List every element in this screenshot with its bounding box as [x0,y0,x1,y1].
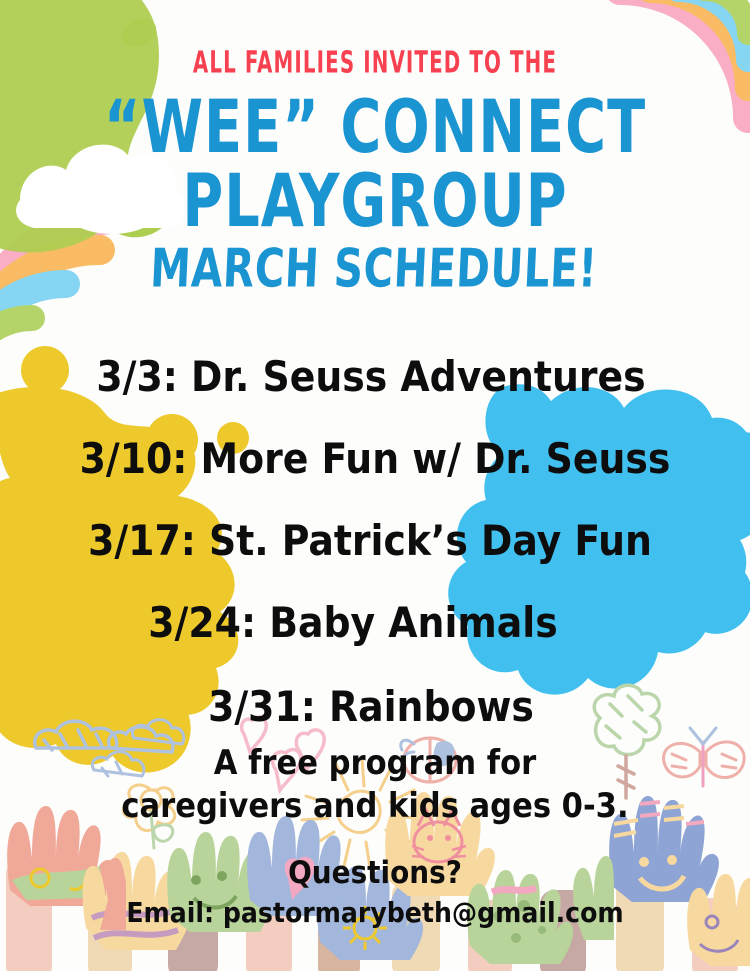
kicker-text: ALL FAMILIES INVITED TO THE [30,45,720,80]
schedule-item-text: 3/24: Baby Animals [0,602,750,644]
schedule-item-text: 3/31: Rainbows [0,686,750,728]
flyer-content: ALL FAMILIES INVITED TO THE “WEE” CONNEC… [0,0,750,971]
description-line-1: A free program for [0,742,750,785]
flyer-poster: ALL FAMILIES INVITED TO THE “WEE” CONNEC… [0,0,750,971]
questions-heading: Questions? [0,855,750,891]
schedule-item: 3/3: Dr. Seuss Adventures [0,336,750,418]
schedule-item: 3/10: More Fun w/ Dr. Seuss [0,418,750,500]
schedule-item-text: 3/3: Dr. Seuss Adventures [0,356,750,398]
flyer-title: “WEE” CONNECT PLAYGROUP MARCH SCHEDULE! [0,92,750,286]
schedule-item: 3/17: St. Patrick’s Day Fun [0,500,750,582]
title-line-3: MARCH SCHEDULE! [0,243,750,294]
title-line-1: “WEE” CONNECT [0,92,750,162]
title-line-2: PLAYGROUP [0,166,750,236]
schedule-item-text: 3/10: More Fun w/ Dr. Seuss [0,438,750,480]
schedule-item: 3/24: Baby Animals [0,582,750,664]
schedule-list: 3/3: Dr. Seuss Adventures 3/10: More Fun… [0,336,750,750]
program-description: A free program for caregivers and kids a… [0,742,750,828]
description-line-2: caregivers and kids ages 0-3. [0,785,750,828]
schedule-item-text: 3/17: St. Patrick’s Day Fun [0,520,750,562]
schedule-item: 3/31: Rainbows [0,664,750,750]
contact-email: Email: pastormarybeth@gmail.com [0,896,750,929]
